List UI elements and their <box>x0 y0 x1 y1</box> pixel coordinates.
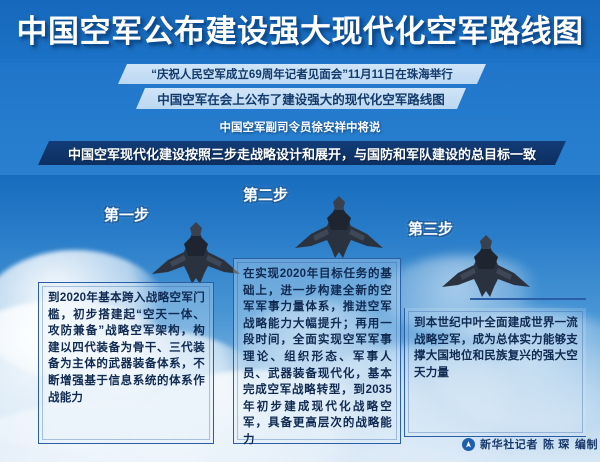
credit-agency: 新华社记者 <box>480 436 538 452</box>
stealth-fighter-1-icon <box>150 222 242 286</box>
step-label-two-text: 第二步 <box>243 187 288 204</box>
credit-line: 新华社记者 陈 琛 编制 <box>462 436 598 452</box>
subtitle-bar-strategy-label: 中国空军现代化建设按照三步走战略设计和展开，与国防和军队建设的总目标一致 <box>68 144 536 163</box>
stealth-fighter-2-icon <box>293 196 385 260</box>
credit-author: 陈 琛 <box>543 436 570 452</box>
step-two-text-box: 在实现2020年目标任务的基础上，进一步构建全新的空军军事力量体系，推进空军战略… <box>233 258 401 444</box>
step-label-two: 第二步 <box>243 184 288 205</box>
step-label-one-text: 第一步 <box>104 207 149 224</box>
page-title-text: 中国空军公布建设强大现代化空军路线图 <box>17 14 584 49</box>
page-title: 中国空军公布建设强大现代化空军路线图 <box>0 12 600 52</box>
step-label-one: 第一步 <box>104 204 149 225</box>
step-label-three: 第三步 <box>408 218 453 239</box>
xinhua-logo-icon <box>462 438 475 451</box>
subtitle-bar-event-label: “庆祝人民空军成立69周年记者见面会”11月11日在珠海举行 <box>151 66 453 82</box>
step-one-text-box: 到2020年基本跨入战略空军门槛，初步搭建起“空天一体、攻防兼备”战略空军架构，… <box>38 282 214 444</box>
subtitle-bar-announcement-label: 中国空军在会上公布了建设强大的现代化空军路线图 <box>157 89 445 108</box>
step-three-text-box: 到本世纪中叶全面建成世界一流战略空军，成为总体实力能够支撑大国地位和民族复兴的强… <box>404 308 586 437</box>
credit-role: 编制 <box>575 436 598 452</box>
subtitle-bar-announcement: 中国空军在会上公布了建设强大的现代化空军路线图 <box>136 88 466 109</box>
subtitle-speaker: 中国空军副司令员徐安祥中将说 <box>0 117 600 136</box>
step-label-three-text: 第三步 <box>408 221 453 238</box>
subtitle-speaker-label: 中国空军副司令员徐安祥中将说 <box>220 119 381 135</box>
subtitle-bar-event: “庆祝人民空军成立69周年记者见面会”11月11日在珠海举行 <box>118 64 486 84</box>
subtitle-bar-strategy: 中国空军现代化建设按照三步走战略设计和展开，与国防和军队建设的总目标一致 <box>38 141 566 165</box>
step-three-box-top-rule <box>470 298 586 300</box>
infographic-poster: 中国空军公布建设强大现代化空军路线图 “庆祝人民空军成立69周年记者见面会”11… <box>0 0 600 462</box>
stealth-fighter-3-icon <box>440 235 532 299</box>
